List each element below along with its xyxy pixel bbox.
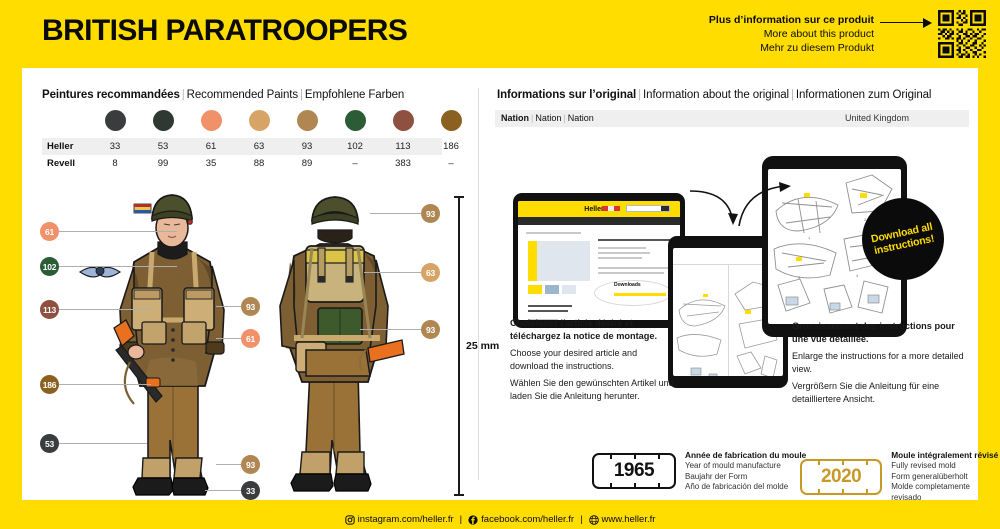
footer-separator-2: | bbox=[580, 514, 582, 525]
caption-right-en: Enlarge the instructions for a more deta… bbox=[792, 350, 972, 375]
site-header-bar: Heller bbox=[518, 201, 680, 217]
para-wings-badge bbox=[80, 267, 120, 277]
thumb-3[interactable] bbox=[562, 285, 576, 294]
footer-separator-1: | bbox=[460, 514, 462, 525]
qr-text: Plus d’information sur ce produit More a… bbox=[709, 10, 874, 56]
callout-badge-middle-33[interactable]: 33 bbox=[241, 481, 260, 500]
arrow-curve-2 bbox=[735, 182, 797, 234]
paint-swatch-63 bbox=[249, 110, 270, 131]
paints-title-de: Empfohlene Farben bbox=[305, 89, 404, 101]
callout-badge-back-93[interactable]: 93 bbox=[421, 204, 440, 223]
poster-root: BRITISH PARATROOPERS Plus d’information … bbox=[0, 0, 1000, 529]
qr-line-de: Mehr zu diesem Produkt bbox=[709, 41, 874, 55]
qr-line-en: More about this product bbox=[709, 27, 874, 41]
caption-left-de: Wählen Sie den gewünschten Artikel und l… bbox=[510, 377, 674, 402]
nation-label-de: Nation bbox=[568, 113, 594, 123]
callout-leader-line bbox=[59, 231, 177, 232]
callout-leader-line bbox=[216, 464, 242, 465]
mould-frame-new: 2020 bbox=[800, 459, 882, 495]
footer-links: instagram.com/heller.fr | facebook.com/h… bbox=[0, 514, 1000, 525]
paint-swatch-53 bbox=[153, 110, 174, 131]
caption-left-fr: Choisissez l’article désiré et télécharg… bbox=[510, 317, 674, 342]
mould-new-es: Molde completamente revisado bbox=[891, 482, 1000, 503]
qr-block: Plus d’information sur ce produit More a… bbox=[709, 10, 986, 58]
paint-swatch-93 bbox=[297, 110, 318, 131]
paint-swatch-186 bbox=[441, 110, 462, 131]
mould-year-new: 2020 Moule intégralement révisé Fully re… bbox=[800, 450, 1000, 504]
callout-leader-line bbox=[360, 329, 422, 330]
callout-badge-front-102[interactable]: 102 bbox=[40, 257, 59, 276]
panel-divider bbox=[478, 88, 479, 480]
nation-label: Nation|Nation|Nation bbox=[501, 113, 594, 123]
thumb-1[interactable] bbox=[528, 285, 542, 294]
mould-old-de: Baujahr der Form bbox=[685, 472, 806, 483]
paint-cell: 99 bbox=[143, 158, 183, 169]
original-title-en: Information about the original bbox=[643, 89, 789, 101]
paint-table: Heller3353616393102113186Revell899358889… bbox=[42, 138, 442, 172]
paint-cell: 88 bbox=[239, 158, 279, 169]
tablet-website-screen: Heller Downloads bbox=[518, 201, 680, 320]
nation-label-en: Nation bbox=[535, 113, 561, 123]
paratrooper-illustrations bbox=[30, 190, 450, 500]
site-search-input[interactable] bbox=[626, 205, 670, 212]
paints-title-fr: Peintures recommandées bbox=[42, 89, 180, 101]
instagram-icon bbox=[345, 515, 355, 525]
svg-text:4: 4 bbox=[856, 273, 859, 278]
callout-leader-line bbox=[59, 443, 147, 444]
paint-swatch-33 bbox=[105, 110, 126, 131]
site-nav-bar[interactable] bbox=[518, 217, 680, 225]
nation-row: Nation|Nation|Nation United Kingdom bbox=[495, 110, 969, 127]
footer-website-label: www.heller.fr bbox=[602, 514, 656, 525]
caption-right-de: Vergrößern Sie die Anleitung für eine de… bbox=[792, 380, 972, 405]
callout-leader-line bbox=[205, 490, 242, 491]
paint-cell: 8 bbox=[95, 158, 135, 169]
language-flags-icon bbox=[602, 206, 620, 211]
callout-leader-line bbox=[216, 338, 242, 339]
qr-line-fr: Plus d’information sur ce produit bbox=[709, 13, 874, 27]
mould-frame-old: 1965 bbox=[592, 453, 676, 489]
footer-facebook[interactable]: facebook.com/heller.fr bbox=[468, 514, 574, 525]
paint-swatch-102 bbox=[345, 110, 366, 131]
title-separator-1: | bbox=[180, 89, 187, 101]
mould-old-es: Año de fabricación del molde bbox=[685, 482, 806, 493]
callout-badge-back-63[interactable]: 63 bbox=[421, 263, 440, 282]
qr-code-icon[interactable] bbox=[938, 10, 986, 58]
footer-instagram[interactable]: instagram.com/heller.fr bbox=[345, 514, 454, 525]
mould-new-text: Moule intégralement révisé Fully revised… bbox=[891, 450, 1000, 504]
callout-leader-line bbox=[59, 266, 177, 267]
footer-website[interactable]: www.heller.fr bbox=[589, 514, 656, 525]
paints-section-title: Peintures recommandées|Recommended Paint… bbox=[42, 89, 404, 101]
facebook-icon bbox=[468, 515, 478, 525]
paint-cell: 186 bbox=[431, 141, 471, 152]
orig-separator-2: | bbox=[789, 89, 796, 101]
paint-swatch-61 bbox=[201, 110, 222, 131]
footer-instagram-label: instagram.com/heller.fr bbox=[358, 514, 454, 525]
caption-right-fr: Grossissement des instructions pour une … bbox=[792, 320, 972, 345]
paint-cell: 53 bbox=[143, 141, 183, 152]
product-box-side bbox=[528, 241, 537, 281]
original-section-title: Informations sur l’original|Information … bbox=[497, 89, 931, 101]
mould-old-fr: Année de fabrication du moule bbox=[685, 450, 806, 461]
arrow-right-icon bbox=[880, 16, 932, 30]
mould-new-fr: Moule intégralement révisé bbox=[891, 450, 1000, 461]
orig-separator-1: | bbox=[636, 89, 643, 101]
nation-label-fr: Nation bbox=[501, 113, 529, 123]
scale-bar bbox=[458, 196, 460, 496]
page-title: BRITISH PARATROOPERS bbox=[42, 16, 407, 46]
callout-leader-line bbox=[364, 272, 422, 273]
paint-cell: – bbox=[335, 158, 375, 169]
scale-label: 25 mm bbox=[466, 340, 499, 352]
callout-badge-front-61[interactable]: 61 bbox=[40, 222, 59, 241]
mould-year-old: 1965 Année de fabrication du moule Year … bbox=[592, 450, 806, 493]
thumb-2[interactable] bbox=[545, 285, 559, 294]
mould-year-new-value: 2020 bbox=[821, 466, 861, 488]
mould-new-de: Form generalüberholt bbox=[891, 472, 1000, 483]
paint-cell: 93 bbox=[287, 141, 327, 152]
paint-cell: 35 bbox=[191, 158, 231, 169]
callout-badge-middle-61[interactable]: 61 bbox=[241, 329, 260, 348]
back-figure bbox=[280, 197, 404, 491]
footer-facebook-label: facebook.com/heller.fr bbox=[481, 514, 574, 525]
paint-swatch-113 bbox=[393, 110, 414, 131]
mould-old-en: Year of mould manufacture bbox=[685, 461, 806, 472]
paint-cell: 89 bbox=[287, 158, 327, 169]
paint-row-revell: Revell899358889–383– bbox=[42, 155, 442, 172]
breadcrumb-line bbox=[526, 232, 581, 234]
nation-value: United Kingdom bbox=[845, 113, 909, 123]
caption-right: Grossissement des instructions pour une … bbox=[792, 320, 972, 410]
callout-leader-line bbox=[59, 384, 151, 385]
callout-badge-front-186[interactable]: 186 bbox=[40, 375, 59, 394]
figure-area: 611021131865393619333936393 bbox=[30, 190, 450, 500]
downloads-heading: Downloads bbox=[614, 282, 641, 288]
globe-icon bbox=[589, 515, 599, 525]
callout-leader-line bbox=[59, 309, 151, 310]
original-title-fr: Informations sur l’original bbox=[497, 89, 636, 101]
download-link[interactable] bbox=[614, 293, 666, 296]
flag-patch bbox=[134, 204, 151, 213]
callout-badge-front-113[interactable]: 113 bbox=[40, 300, 59, 319]
caption-left: Choisissez l’article désiré et télécharg… bbox=[510, 317, 674, 407]
search-icon bbox=[661, 206, 669, 211]
title-separator-2: | bbox=[298, 89, 305, 101]
paint-row-heller: Heller3353616393102113186 bbox=[42, 138, 442, 155]
mould-year-old-value: 1965 bbox=[614, 460, 654, 482]
paint-row-label: Heller bbox=[47, 141, 73, 152]
paint-swatch-row bbox=[42, 110, 442, 136]
paint-cell: 61 bbox=[191, 141, 231, 152]
front-figure bbox=[80, 195, 224, 495]
callout-leader-line bbox=[216, 306, 242, 307]
product-image bbox=[528, 241, 590, 281]
caption-left-en: Choose your desired article and download… bbox=[510, 347, 674, 372]
callout-badge-front-53[interactable]: 53 bbox=[40, 434, 59, 453]
paints-title-en: Recommended Paints bbox=[187, 89, 298, 101]
paint-cell: 383 bbox=[383, 158, 423, 169]
mould-new-en: Fully revised mold bbox=[891, 461, 1000, 472]
callout-leader-line bbox=[370, 213, 422, 214]
paint-cell: 33 bbox=[95, 141, 135, 152]
paint-cell: 113 bbox=[383, 141, 423, 152]
callout-badge-back-93[interactable]: 93 bbox=[421, 320, 440, 339]
svg-text:1: 1 bbox=[808, 235, 811, 240]
paint-row-label: Revell bbox=[47, 158, 75, 169]
callout-badge-middle-93[interactable]: 93 bbox=[241, 297, 260, 316]
paint-cell: 102 bbox=[335, 141, 375, 152]
paint-cell: – bbox=[431, 158, 471, 169]
callout-badge-middle-93[interactable]: 93 bbox=[241, 455, 260, 474]
mould-old-text: Année de fabrication du moule Year of mo… bbox=[685, 450, 806, 493]
tablet-website-mockup: Heller Downloads bbox=[513, 193, 685, 328]
product-title-line bbox=[598, 239, 670, 241]
paint-cell: 63 bbox=[239, 141, 279, 152]
original-title-de: Informationen zum Original bbox=[796, 89, 931, 101]
